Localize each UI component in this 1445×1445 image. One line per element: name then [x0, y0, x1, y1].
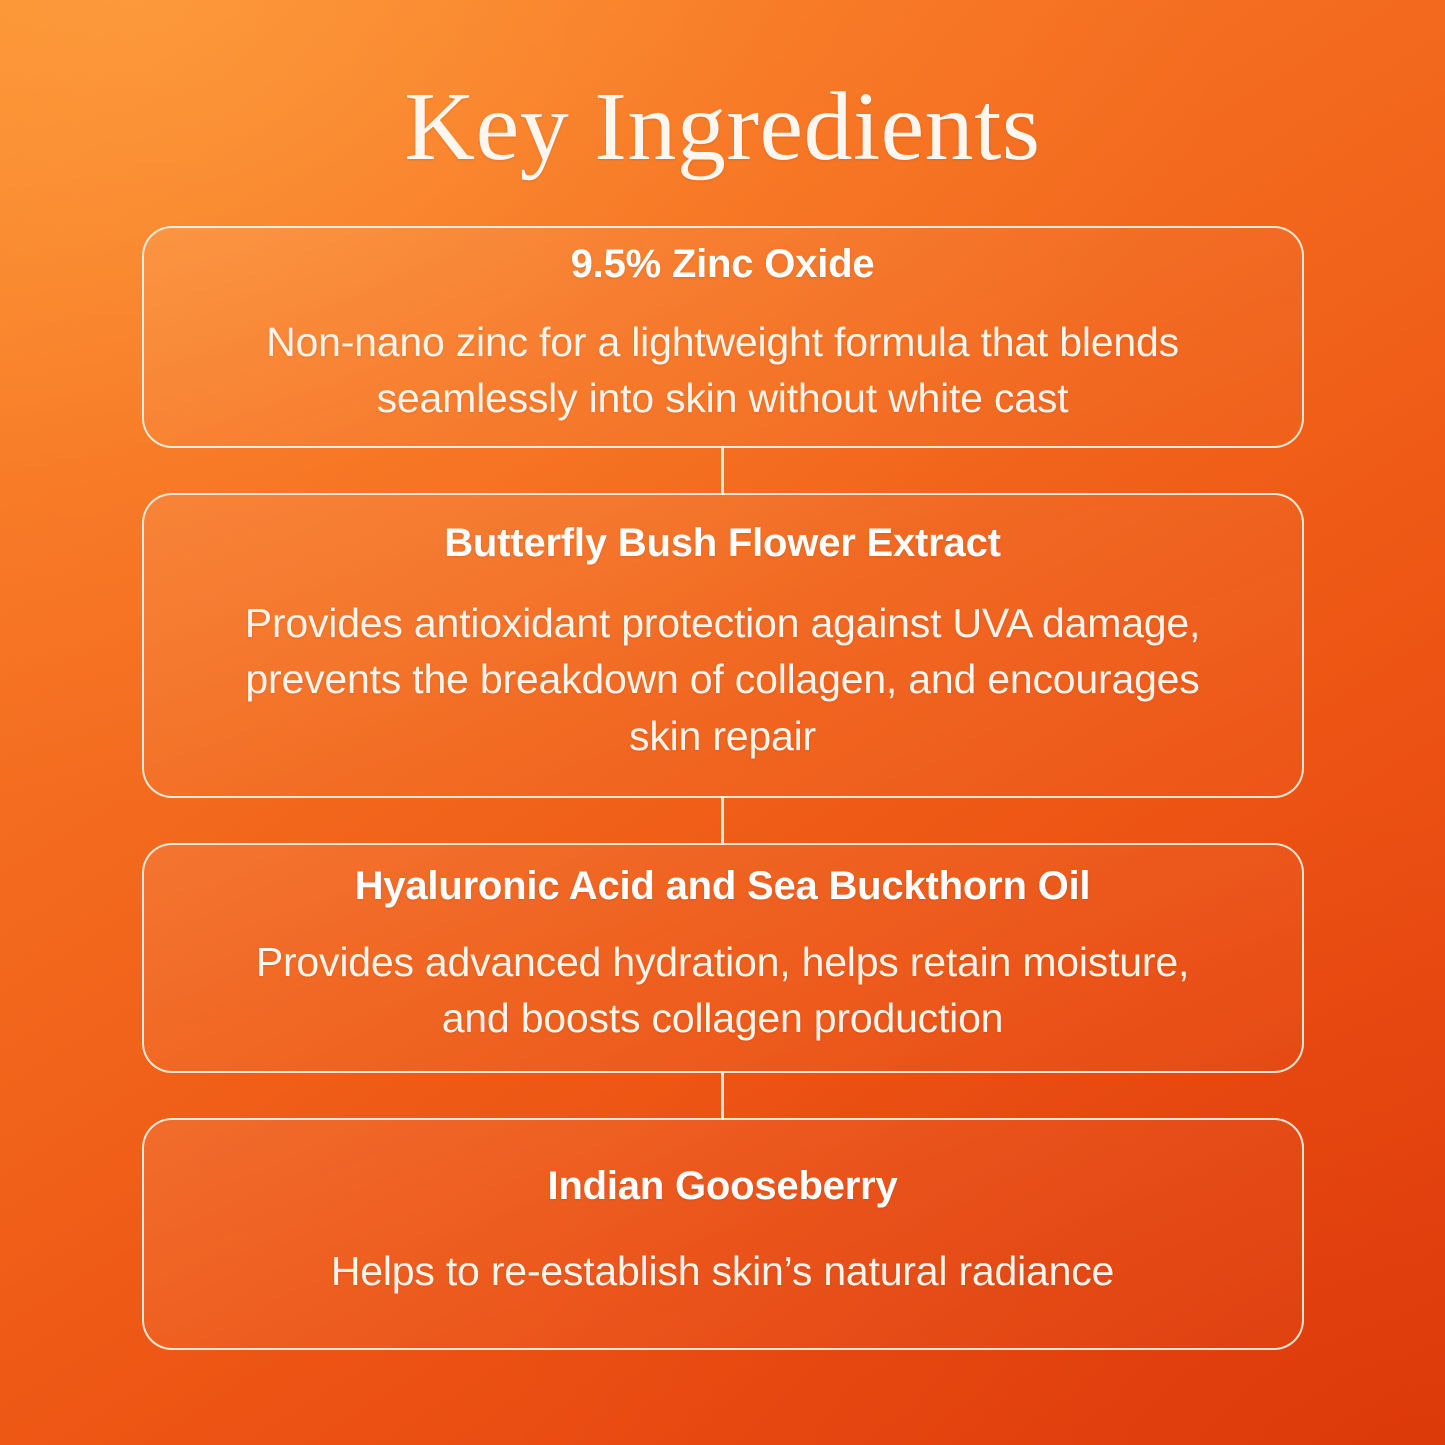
ingredient-name: Indian Gooseberry — [547, 1163, 897, 1209]
key-ingredients-panel: Key Ingredients 9.5% Zinc Oxide Non-nano… — [0, 0, 1445, 1445]
connector-line-3 — [142, 1073, 1304, 1118]
ingredient-card-zinc-oxide: 9.5% Zinc Oxide Non-nano zinc for a ligh… — [142, 226, 1304, 448]
ingredient-description: Provides advanced hydration, helps retai… — [223, 934, 1223, 1047]
ingredient-card-butterfly-bush-flower-extract: Butterfly Bush Flower Extract Provides a… — [142, 493, 1304, 798]
ingredient-description: Provides antioxidant protection against … — [223, 595, 1223, 765]
ingredient-card-indian-gooseberry: Indian Gooseberry Helps to re-establish … — [142, 1118, 1304, 1350]
ingredient-card-stack: 9.5% Zinc Oxide Non-nano zinc for a ligh… — [142, 226, 1304, 1350]
ingredient-name: Hyaluronic Acid and Sea Buckthorn Oil — [355, 863, 1091, 909]
ingredient-name: 9.5% Zinc Oxide — [571, 241, 875, 287]
connector-line-2 — [142, 798, 1304, 843]
page-title: Key Ingredients — [0, 78, 1445, 176]
ingredient-name: Butterfly Bush Flower Extract — [444, 520, 1001, 566]
ingredient-description: Non-nano zinc for a lightweight formula … — [223, 314, 1223, 427]
ingredient-description: Helps to re-establish skin’s natural rad… — [331, 1243, 1114, 1300]
ingredient-card-hyaluronic-acid-sea-buckthorn-oil: Hyaluronic Acid and Sea Buckthorn Oil Pr… — [142, 843, 1304, 1073]
connector-line-1 — [142, 448, 1304, 493]
